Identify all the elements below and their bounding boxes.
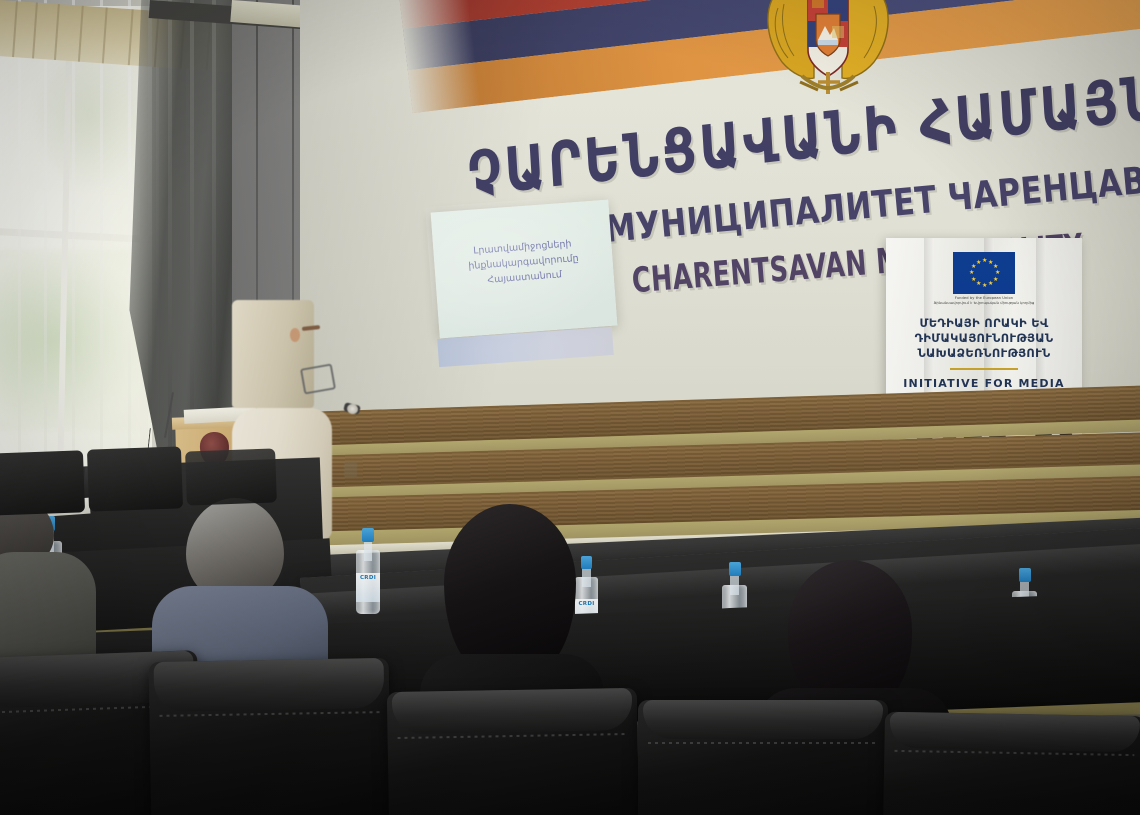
speaker-trousers (232, 300, 314, 408)
eu-funding-caption-hy: Ֆինանսավորվում է Եվրոպական միության կողմ… (886, 301, 1082, 306)
projection-screen: Լրատվամիջոցների ինքնակարգավորումը Հայաստ… (431, 200, 618, 339)
eu-flag-icon: ★ ★ ★ ★ ★ ★ ★ ★ ★ ★ ★ ★ (953, 252, 1015, 294)
chair-far-1[interactable] (0, 450, 85, 515)
audience-person-left-edge (0, 500, 96, 680)
water-bottle-2: CRDI (356, 528, 380, 614)
banner-title-hy-line3: ՆԱԽԱՁԵՌՆՈՒԹՅՈՒՆ (894, 346, 1074, 361)
banner-title-hy-line2: ԴԻՄԱԿԱՅՈՒՆՈՒԹՅԱՆ (894, 331, 1074, 346)
bottle-label-2: CRDI (356, 575, 380, 581)
speaker-shirt-pocket (344, 462, 357, 477)
speaker-ear (290, 328, 300, 342)
chair-5[interactable] (883, 712, 1140, 815)
chair-far-2[interactable] (87, 446, 183, 511)
conference-photo: ՉԱՐԵՆՑԱՎԱՆԻ ՀԱՄԱՅՆՔԱՊԵ МУНИЦИПАЛИТЕТ ЧАР… (0, 0, 1140, 815)
chair-far-3[interactable] (185, 448, 277, 505)
chair-3[interactable] (387, 688, 639, 815)
banner-title-armenian: ՄԵԴԻԱՅԻ ՈՐԱԿԻ ԵՎ ԴԻՄԱԿԱՅՈՒՆՈՒԹՅԱՆ ՆԱԽԱՁԵ… (894, 316, 1074, 361)
chair-4[interactable] (638, 700, 888, 815)
speaker-glasses-icon (300, 363, 336, 394)
chair-2[interactable] (149, 658, 392, 815)
banner-accent-rule (950, 368, 1018, 370)
banner-title-hy-line1: ՄԵԴԻԱՅԻ ՈՐԱԿԻ ԵՎ (894, 316, 1074, 331)
